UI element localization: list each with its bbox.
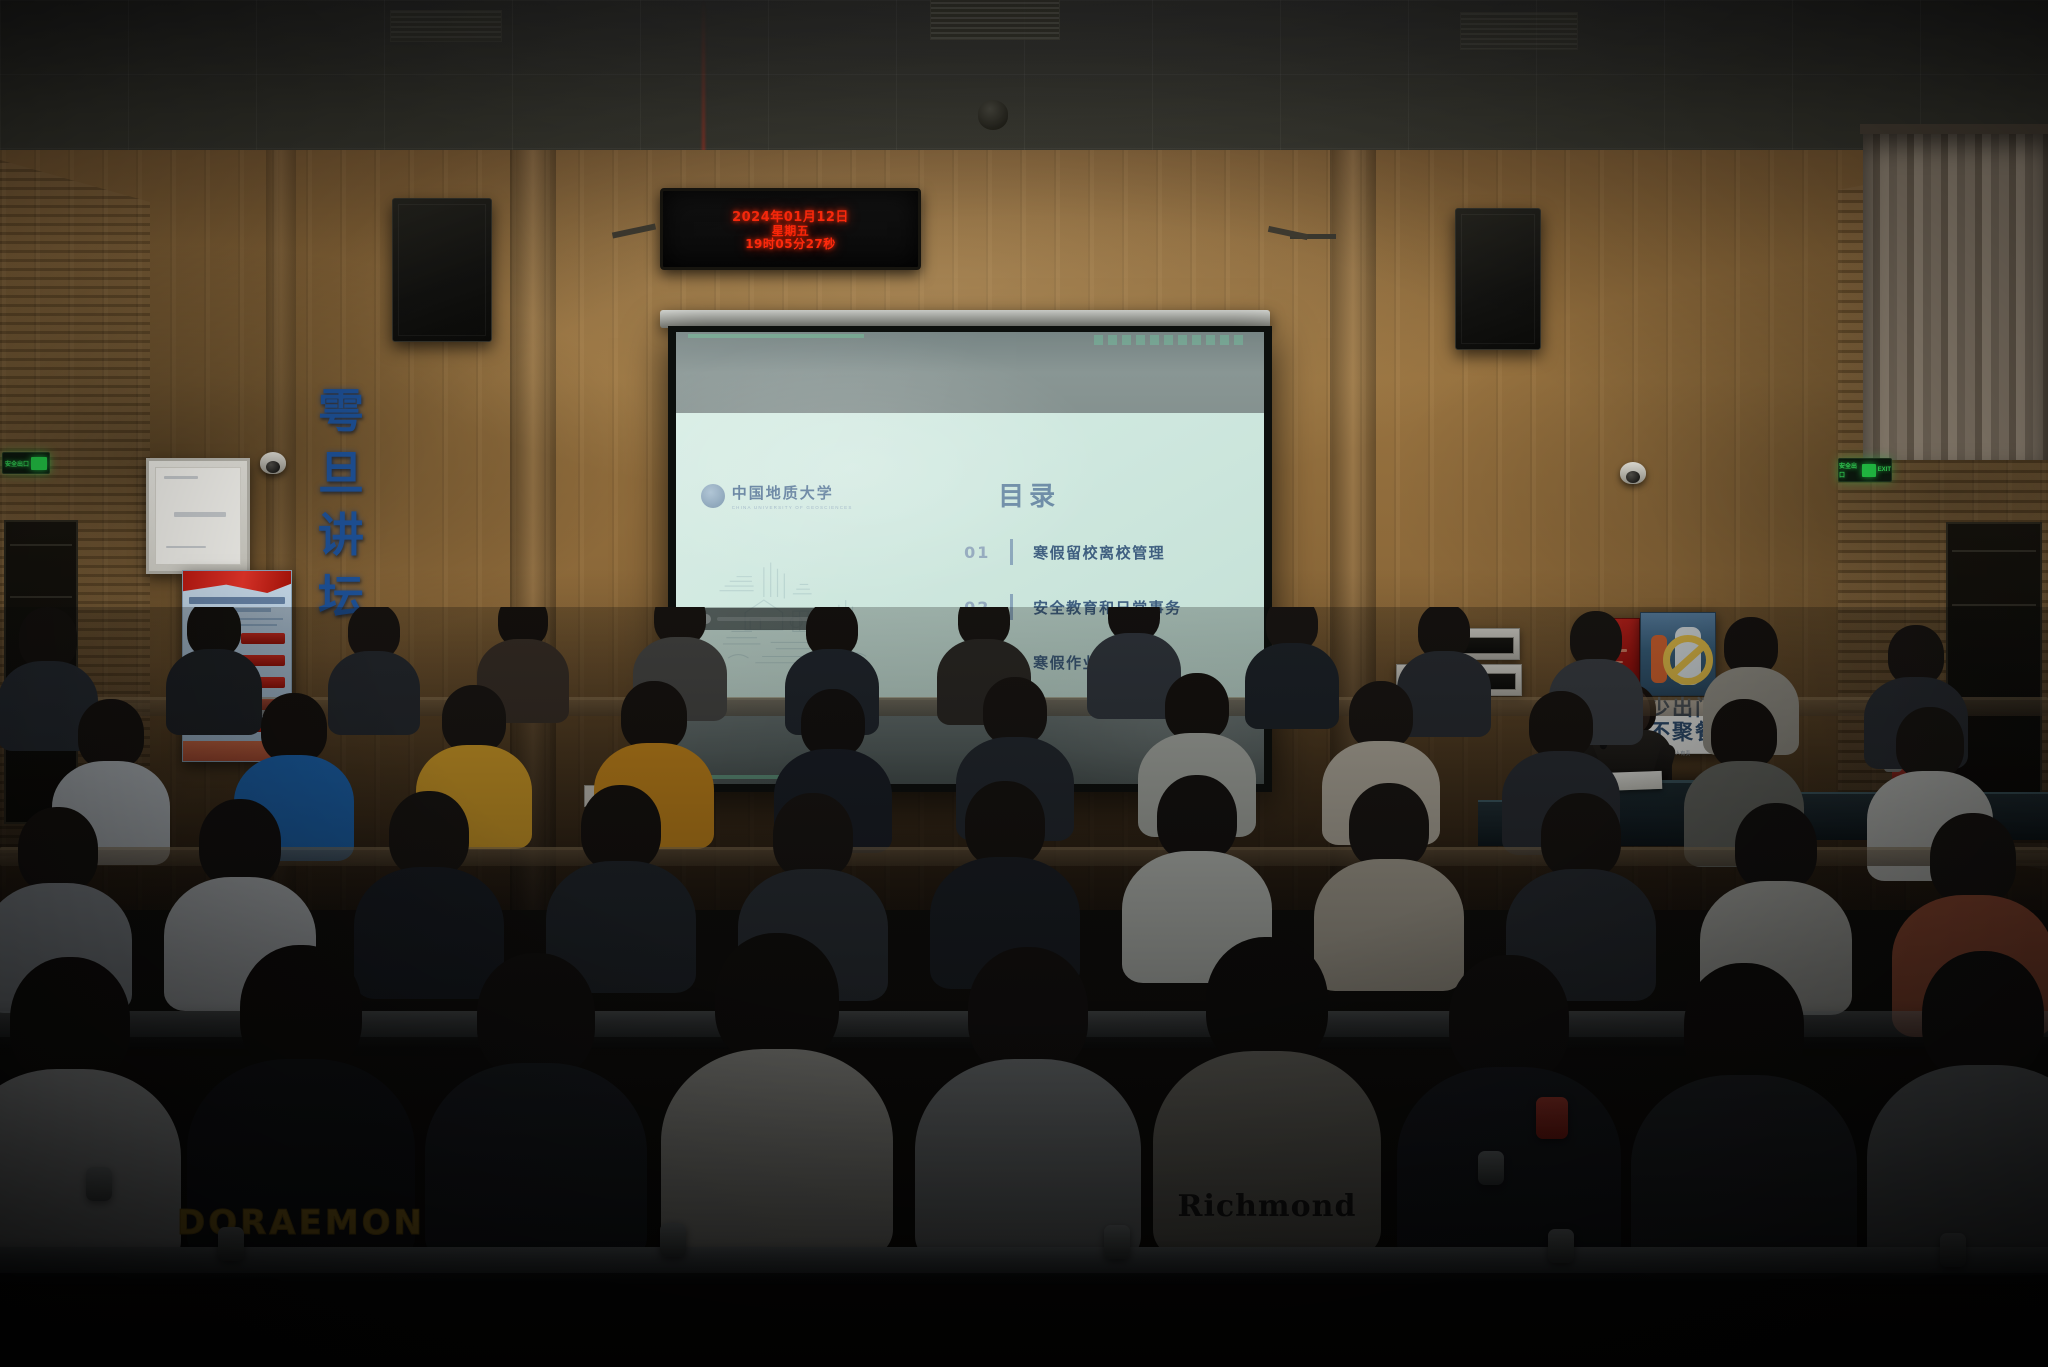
toc-item-label: 寒假留校离校管理 — [1033, 542, 1165, 563]
door-detail — [10, 544, 72, 546]
led-clock: 2024年01月12日 星期五 19时05分27秒 — [660, 188, 921, 270]
slide-heading: 目录 — [998, 476, 1234, 513]
wall-speaker-left — [392, 198, 492, 342]
notice-cabinet[interactable] — [146, 458, 250, 574]
dome-camera-left — [260, 452, 286, 474]
exit-sign-label-en: EXIT — [1878, 467, 1891, 473]
slide-top-right-marks — [1094, 335, 1247, 345]
wall-calligraphy: 雩 旦 讲 坛 — [318, 388, 364, 620]
exit-sign-right: 安全出口 EXIT — [1838, 458, 1892, 482]
exit-sign-left: 安全出口 — [2, 452, 50, 474]
poster-title-bar — [189, 597, 285, 604]
calligraphy-char-2: 旦 — [318, 450, 364, 496]
exit-sign-label-cn: 安全出口 — [1839, 461, 1860, 479]
university-name-cn: 中国地质大学 — [732, 482, 853, 503]
university-emblem-icon — [701, 484, 725, 508]
running-man-icon — [31, 457, 47, 470]
audience-shading — [0, 607, 2048, 1367]
lecture-hall-photo: 安全出口 安全出口 EXIT 2024年01月12日 星期五 19时05分27秒… — [0, 0, 2048, 1367]
university-name-en: CHINA UNIVERSITY OF GEOSCIENCES — [732, 505, 853, 510]
led-clock-date: 2024年01月12日 — [732, 211, 849, 225]
toc-divider — [1010, 539, 1013, 565]
poster-red-banner — [183, 571, 291, 593]
exit-sign-label-cn: 安全出口 — [5, 459, 29, 468]
door-detail — [1952, 550, 2036, 552]
calligraphy-char-3: 讲 — [318, 512, 364, 558]
dome-camera-right — [1620, 462, 1646, 484]
slide-top-accent — [688, 334, 864, 338]
door-detail — [10, 596, 72, 598]
notice-line — [174, 512, 226, 517]
calligraphy-char-1: 雩 — [318, 388, 364, 434]
notice-line — [166, 546, 206, 548]
toc-item-number: 01 — [964, 543, 1008, 562]
curtain-rail — [1860, 124, 2048, 134]
audience-area: DORAEMON Richmond — [0, 607, 2048, 1367]
wall-speaker-right — [1455, 208, 1541, 350]
running-man-icon — [1862, 464, 1876, 477]
university-logo: 中国地质大学 CHINA UNIVERSITY OF GEOSCIENCES — [701, 482, 853, 510]
toc-item: 01 寒假留校离校管理 — [964, 539, 1234, 565]
notice-cabinet-glass — [155, 467, 241, 565]
door-detail — [1952, 604, 2036, 606]
slide-top-band — [676, 332, 1264, 413]
window-curtain — [1863, 130, 2048, 460]
led-clock-time: 19时05分27秒 — [745, 238, 836, 251]
notice-line — [164, 476, 198, 479]
